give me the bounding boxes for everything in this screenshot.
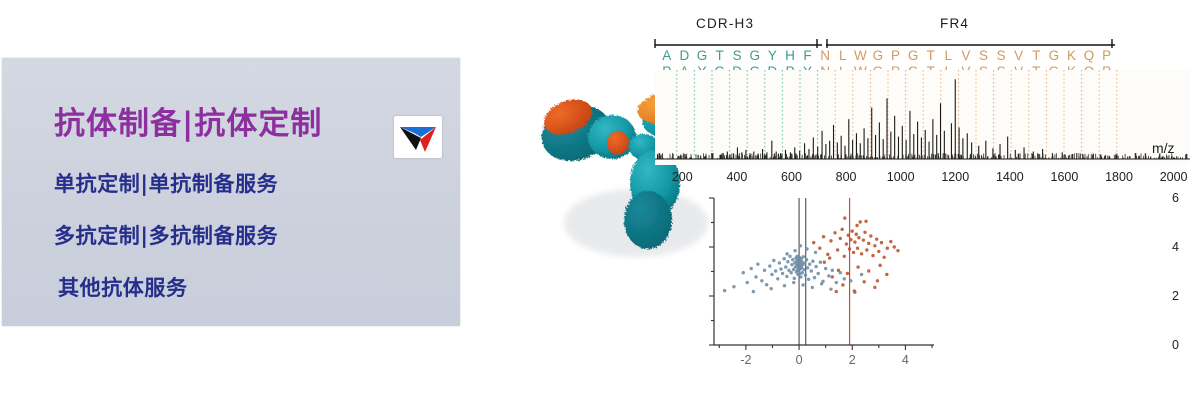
spectrum-xtick: 400: [726, 170, 747, 184]
scatter-ytick: 4: [1172, 240, 1179, 254]
figure-panel: CDR-H3 FR4 ADGTSGYHFNLWGPGTLVSSVTGKQP PA…: [500, 0, 1200, 400]
scatter-xtick: 0: [796, 353, 803, 367]
residue: N: [816, 48, 834, 63]
scatter-xtick: 2: [849, 353, 856, 367]
scatter-xtick: -2: [740, 353, 751, 367]
residue: G: [904, 48, 922, 63]
spectrum-xtick: 1000: [887, 170, 915, 184]
residue: S: [992, 48, 1010, 63]
residue: T: [711, 48, 729, 63]
residue: L: [940, 48, 958, 63]
residue: A: [658, 48, 676, 63]
scatter-ytick: 0: [1172, 338, 1179, 352]
residue: G: [1045, 48, 1063, 63]
residue: H: [781, 48, 799, 63]
residue: D: [676, 48, 694, 63]
ms-spectrum-plot: [655, 70, 1190, 165]
spectrum-xtick: 600: [781, 170, 802, 184]
residue: T: [922, 48, 940, 63]
residue: P: [887, 48, 905, 63]
service-link-monoclonal[interactable]: 单抗定制|单抗制备服务: [54, 168, 278, 198]
xcorr-scatter-plot: [688, 192, 938, 367]
residue: F: [799, 48, 817, 63]
residue: Y: [764, 48, 782, 63]
bracket-label-cdr-h3: CDR-H3: [696, 16, 754, 31]
promo-panel: 抗体制备|抗体定制 单抗定制|单抗制备服务 多抗定制|多抗制备服务 其他抗体服务: [2, 58, 460, 326]
residue: V: [957, 48, 975, 63]
residue: V: [1010, 48, 1028, 63]
spectrum-xtick: 1600: [1051, 170, 1079, 184]
spectrum-axis-label: m/z: [1152, 140, 1175, 156]
residue: G: [693, 48, 711, 63]
residue: G: [869, 48, 887, 63]
spectrum-xtick: 2000: [1160, 170, 1188, 184]
spectrum-xtick: 1800: [1105, 170, 1133, 184]
spectrum-xtick: 1400: [996, 170, 1024, 184]
residue: G: [746, 48, 764, 63]
scatter-xtick: 4: [902, 353, 909, 367]
scatter-ytick: 2: [1172, 289, 1179, 303]
residue: S: [975, 48, 993, 63]
sequence-alignment: CDR-H3 FR4 ADGTSGYHFNLWGPGTLVSSVTGKQP PA…: [650, 18, 1195, 70]
brand-logo-icon: [394, 116, 442, 158]
scatter-ytick: 6: [1172, 191, 1179, 205]
sequence-row-query: ADGTSGYHFNLWGPGTLVSSVTGKQP: [658, 48, 1115, 63]
residue: W: [852, 48, 870, 63]
bracket-label-fr4: FR4: [940, 16, 969, 31]
service-link-polyclonal[interactable]: 多抗定制|多抗制备服务: [54, 220, 278, 250]
spectrum-xtick: 800: [836, 170, 857, 184]
residue: L: [834, 48, 852, 63]
page-title: 抗体制备|抗体定制: [54, 98, 322, 143]
residue: S: [728, 48, 746, 63]
service-link-other[interactable]: 其他抗体服务: [58, 272, 188, 302]
residue: Q: [1080, 48, 1098, 63]
spectrum-xtick: 1200: [941, 170, 969, 184]
residue: P: [1098, 48, 1116, 63]
residue: K: [1063, 48, 1081, 63]
spectrum-xtick: 200: [672, 170, 693, 184]
residue: T: [1027, 48, 1045, 63]
